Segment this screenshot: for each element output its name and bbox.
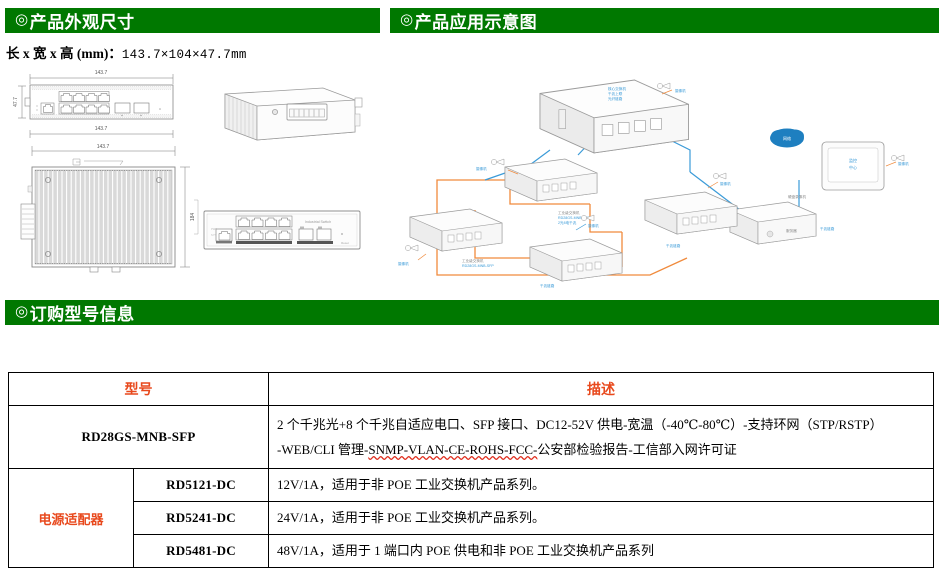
svg-text:PWR: PWR <box>211 227 217 231</box>
svg-text:核心交换机: 核心交换机 <box>608 86 626 91</box>
svg-text:服务器: 服务器 <box>786 228 797 233</box>
svg-text:摄像机: 摄像机 <box>398 261 409 266</box>
group-label-power-adapter: 电源适配器 <box>9 469 134 568</box>
table-row: 电源适配器 RD5121-DC 12V/1A，适用于非 POE 工业交换机产品系… <box>9 469 934 502</box>
model-name-adapter-2: RD5241-DC <box>134 502 269 535</box>
description-main: 2 个千兆光+8 个千兆自适应电口、SFP 接口、DC12-52V 供电-宽温（… <box>269 406 934 469</box>
svg-text:中心: 中心 <box>849 164 857 170</box>
table-row: RD5241-DC 24V/1A，适用于非 POE 工业交换机产品系列。 <box>9 502 934 535</box>
description-line-2-text: -WEB/CLI 管理-SNMP-VLAN-CE-ROHS-FCC-公安部检验报… <box>277 442 737 457</box>
svg-text:千兆链路: 千兆链路 <box>820 226 835 231</box>
svg-text:184: 184 <box>190 213 196 222</box>
section-title-ordering: 订购型号信息 <box>30 300 135 325</box>
dimension-value: 143.7×104×47.7mm <box>122 48 247 62</box>
model-name-adapter-1: RD5121-DC <box>134 469 269 502</box>
side-view-drawing <box>205 80 365 150</box>
svg-text:工业级交换机: 工业级交换机 <box>462 258 484 263</box>
model-name-main: RD28GS-MNB-SFP <box>9 406 269 469</box>
svg-text:光纤链路: 光纤链路 <box>608 96 623 101</box>
svg-text:摄像机: 摄像机 <box>720 181 731 186</box>
description-adapter-2: 24V/1A，适用于非 POE 工业交换机产品系列。 <box>269 502 934 535</box>
svg-text:千兆链路: 千兆链路 <box>540 283 555 288</box>
column-header-model: 型号 <box>9 373 269 406</box>
svg-text:47.7: 47.7 <box>13 97 19 107</box>
top-view-drawing: 143.7 184 <box>8 142 203 282</box>
table-row: RD28GS-MNB-SFP 2 个千兆光+8 个千兆自适应电口、SFP 接口、… <box>9 406 934 469</box>
svg-text:硬盘录像机: 硬盘录像机 <box>788 194 806 199</box>
table-row: RD5481-DC 48V/1A，适用于 1 端口内 POE 供电和非 POE … <box>9 535 934 568</box>
section-header-application: ◎ 产品应用示意图 <box>390 8 939 33</box>
svg-text:千兆上联: 千兆上联 <box>608 91 623 96</box>
svg-text:摄像机: 摄像机 <box>675 88 686 93</box>
bullet-icon: ◎ <box>400 13 414 28</box>
section-title-dimension: 产品外观尺寸 <box>30 8 135 33</box>
dimension-text: 长 x 宽 x 高 (mm)：143.7×104×47.7mm <box>6 42 247 62</box>
datasheet-page: ◎ 产品外观尺寸 ◎ 产品应用示意图 长 x 宽 x 高 (mm)：143.7×… <box>0 0 944 567</box>
svg-text:Industrial Switch: Industrial Switch <box>305 220 331 224</box>
svg-text:摄像机: 摄像机 <box>588 223 599 228</box>
bullet-icon: ◎ <box>15 305 29 320</box>
svg-text:2光8电千兆: 2光8电千兆 <box>558 220 577 225</box>
svg-text:Reset: Reset <box>341 241 349 245</box>
description-line-2: -WEB/CLI 管理-SNMP-VLAN-CE-ROHS-FCC-公安部检验报… <box>277 437 925 462</box>
svg-text:工业级交换机: 工业级交换机 <box>558 210 580 215</box>
svg-text:千兆链路: 千兆链路 <box>666 243 681 248</box>
network-topology-diagram: 核心交换机 千兆上联 光纤链路 摄像机 网络 监控 中心 摄像机 <box>390 62 939 292</box>
bullet-icon: ◎ <box>15 13 29 28</box>
ordering-information-table: 型号 描述 RD28GS-MNB-SFP 2 个千兆光+8 个千兆自适应电口、S… <box>8 372 934 568</box>
front-view-drawing: 143.7 47.7 <box>8 62 193 142</box>
spellcheck-underline: SNMP-VLAN-CE-ROHS-FCC- <box>368 442 537 457</box>
svg-text:摄像机: 摄像机 <box>476 166 487 171</box>
table-header-row: 型号 描述 <box>9 373 934 406</box>
svg-text:SYS: SYS <box>211 233 216 237</box>
section-title-application: 产品应用示意图 <box>415 8 538 33</box>
svg-text:143.7: 143.7 <box>97 144 110 150</box>
svg-text:监控: 监控 <box>849 157 857 163</box>
description-adapter-3: 48V/1A，适用于 1 端口内 POE 供电和非 POE 工业交换机产品系列 <box>269 535 934 568</box>
product-photo-view: Industrial Switch Reset PWR SYS <box>200 205 365 255</box>
svg-text:摄像机: 摄像机 <box>898 161 909 166</box>
section-header-ordering: ◎ 订购型号信息 <box>5 300 939 325</box>
dimension-label: 长 x 宽 x 高 (mm)： <box>6 46 122 61</box>
svg-text:RD28GS-MNB-SFP: RD28GS-MNB-SFP <box>462 264 494 268</box>
section-header-dimension: ◎ 产品外观尺寸 <box>5 8 380 33</box>
svg-text:网络: 网络 <box>783 135 791 141</box>
svg-text:143.7: 143.7 <box>95 70 108 76</box>
description-adapter-1: 12V/1A，适用于非 POE 工业交换机产品系列。 <box>269 469 934 502</box>
model-name-adapter-3: RD5481-DC <box>134 535 269 568</box>
svg-text:143.7: 143.7 <box>95 126 108 132</box>
column-header-description: 描述 <box>269 373 934 406</box>
description-line-1: 2 个千兆光+8 个千兆自适应电口、SFP 接口、DC12-52V 供电-宽温（… <box>277 412 925 437</box>
